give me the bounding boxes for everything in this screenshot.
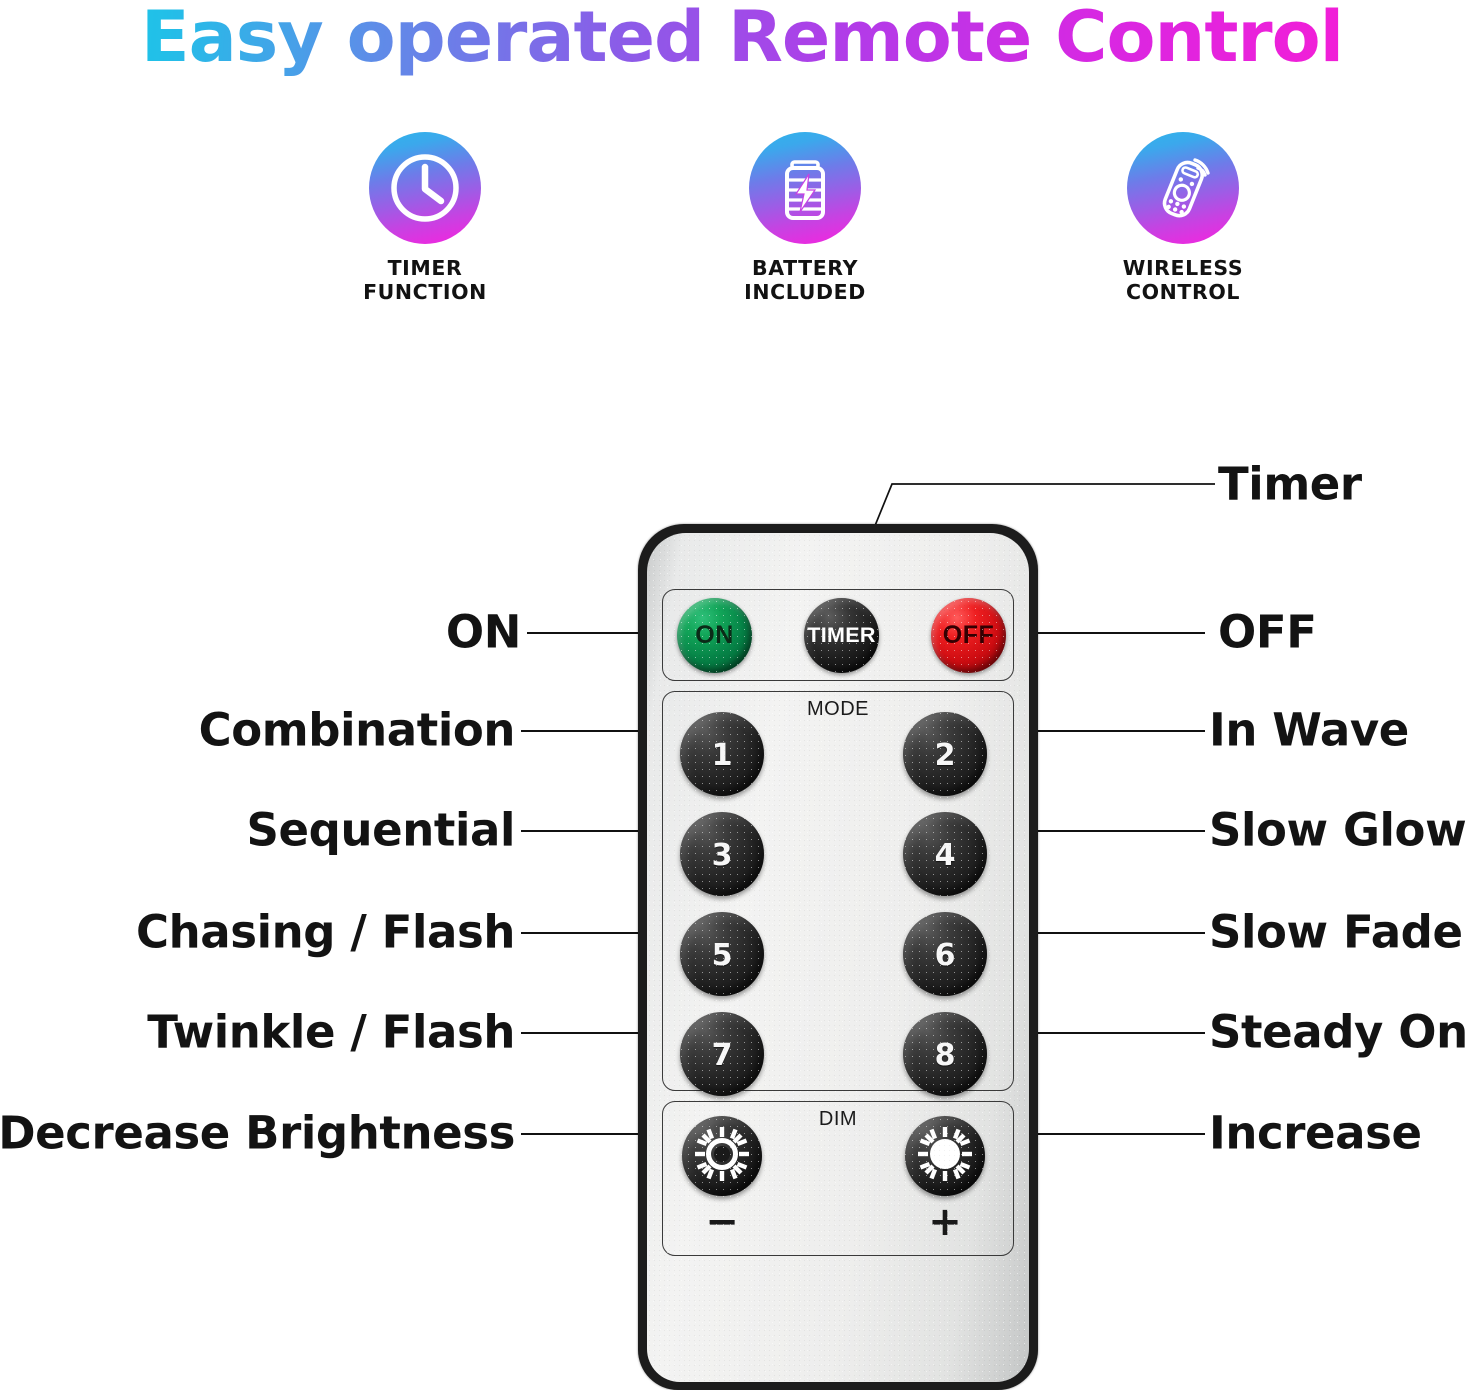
callout-combination: Combination bbox=[199, 704, 515, 757]
mode-button-label: 4 bbox=[935, 838, 956, 873]
remote-signal-icon-badge bbox=[1127, 132, 1239, 244]
feature-battery-included: BATTERY INCLUDED bbox=[685, 132, 925, 304]
off-button[interactable]: OFF bbox=[931, 598, 1006, 673]
mode-button-label: 2 bbox=[935, 738, 956, 773]
feature-label: BATTERY INCLUDED bbox=[685, 256, 925, 304]
feature-badges-row: TIMER FUNCTION BATTERY INCLUDED bbox=[0, 132, 1484, 332]
mode-button-1[interactable]: 1 bbox=[680, 712, 764, 796]
callout-off: OFF bbox=[1218, 606, 1317, 659]
feature-label: WIRELESS CONTROL bbox=[1063, 256, 1303, 304]
brightness-low-icon bbox=[691, 1123, 753, 1190]
mode-button-7[interactable]: 7 bbox=[680, 1012, 764, 1096]
callout-on: ON bbox=[446, 606, 521, 659]
battery-icon bbox=[766, 149, 844, 227]
feature-label: TIMER FUNCTION bbox=[305, 256, 545, 304]
callout-decrease-brightness: Decrease Brightness bbox=[0, 1107, 515, 1160]
mode-button-4[interactable]: 4 bbox=[903, 812, 987, 896]
mode-button-6[interactable]: 6 bbox=[903, 912, 987, 996]
callout-slow-glow: Slow Glow bbox=[1209, 804, 1466, 857]
callout-increase: Increase bbox=[1209, 1107, 1422, 1160]
dim-minus-symbol: − bbox=[682, 1202, 762, 1242]
callout-twinkle-flash: Twinkle / Flash bbox=[147, 1006, 515, 1059]
battery-icon-badge bbox=[749, 132, 861, 244]
feature-timer-function: TIMER FUNCTION bbox=[305, 132, 545, 304]
callout-in-wave: In Wave bbox=[1209, 704, 1409, 757]
mode-button-2[interactable]: 2 bbox=[903, 712, 987, 796]
brightness-high-icon bbox=[914, 1123, 976, 1190]
power-button-panel: ON TIMER OFF bbox=[662, 589, 1014, 681]
callout-steady-on: Steady On bbox=[1209, 1006, 1468, 1059]
remote-control: ON TIMER OFF MODE 1 2 3 4 5 6 7 8 DIM bbox=[638, 524, 1038, 1390]
on-button[interactable]: ON bbox=[677, 598, 752, 673]
page-title: Easy operated Remote Control bbox=[0, 0, 1484, 78]
callout-slow-fade: Slow Fade bbox=[1209, 906, 1463, 959]
remote-faceplate: ON TIMER OFF MODE 1 2 3 4 5 6 7 8 DIM bbox=[647, 533, 1029, 1382]
callout-timer: Timer bbox=[1218, 458, 1362, 511]
mode-button-panel: MODE 1 2 3 4 5 6 7 8 bbox=[662, 691, 1014, 1091]
dim-plus-symbol: + bbox=[905, 1202, 985, 1242]
mode-button-8[interactable]: 8 bbox=[903, 1012, 987, 1096]
mode-button-label: 3 bbox=[712, 838, 733, 873]
mode-button-label: 7 bbox=[712, 1038, 733, 1073]
mode-panel-caption: MODE bbox=[663, 698, 1013, 721]
mode-button-label: 6 bbox=[935, 938, 956, 973]
clock-icon bbox=[386, 149, 464, 227]
mode-button-5[interactable]: 5 bbox=[680, 912, 764, 996]
remote-signal-icon bbox=[1143, 148, 1223, 228]
dim-panel-caption: DIM bbox=[663, 1108, 1013, 1131]
feature-wireless-control: WIRELESS CONTROL bbox=[1063, 132, 1303, 304]
callout-sequential: Sequential bbox=[247, 804, 515, 857]
timer-button[interactable]: TIMER bbox=[804, 598, 879, 673]
mode-button-3[interactable]: 3 bbox=[680, 812, 764, 896]
mode-button-label: 1 bbox=[712, 738, 733, 773]
mode-button-label: 5 bbox=[712, 938, 733, 973]
callout-chasing-flash: Chasing / Flash bbox=[136, 906, 515, 959]
dim-button-panel: DIM bbox=[662, 1101, 1014, 1256]
clock-icon-badge bbox=[369, 132, 481, 244]
mode-button-label: 8 bbox=[935, 1038, 956, 1073]
